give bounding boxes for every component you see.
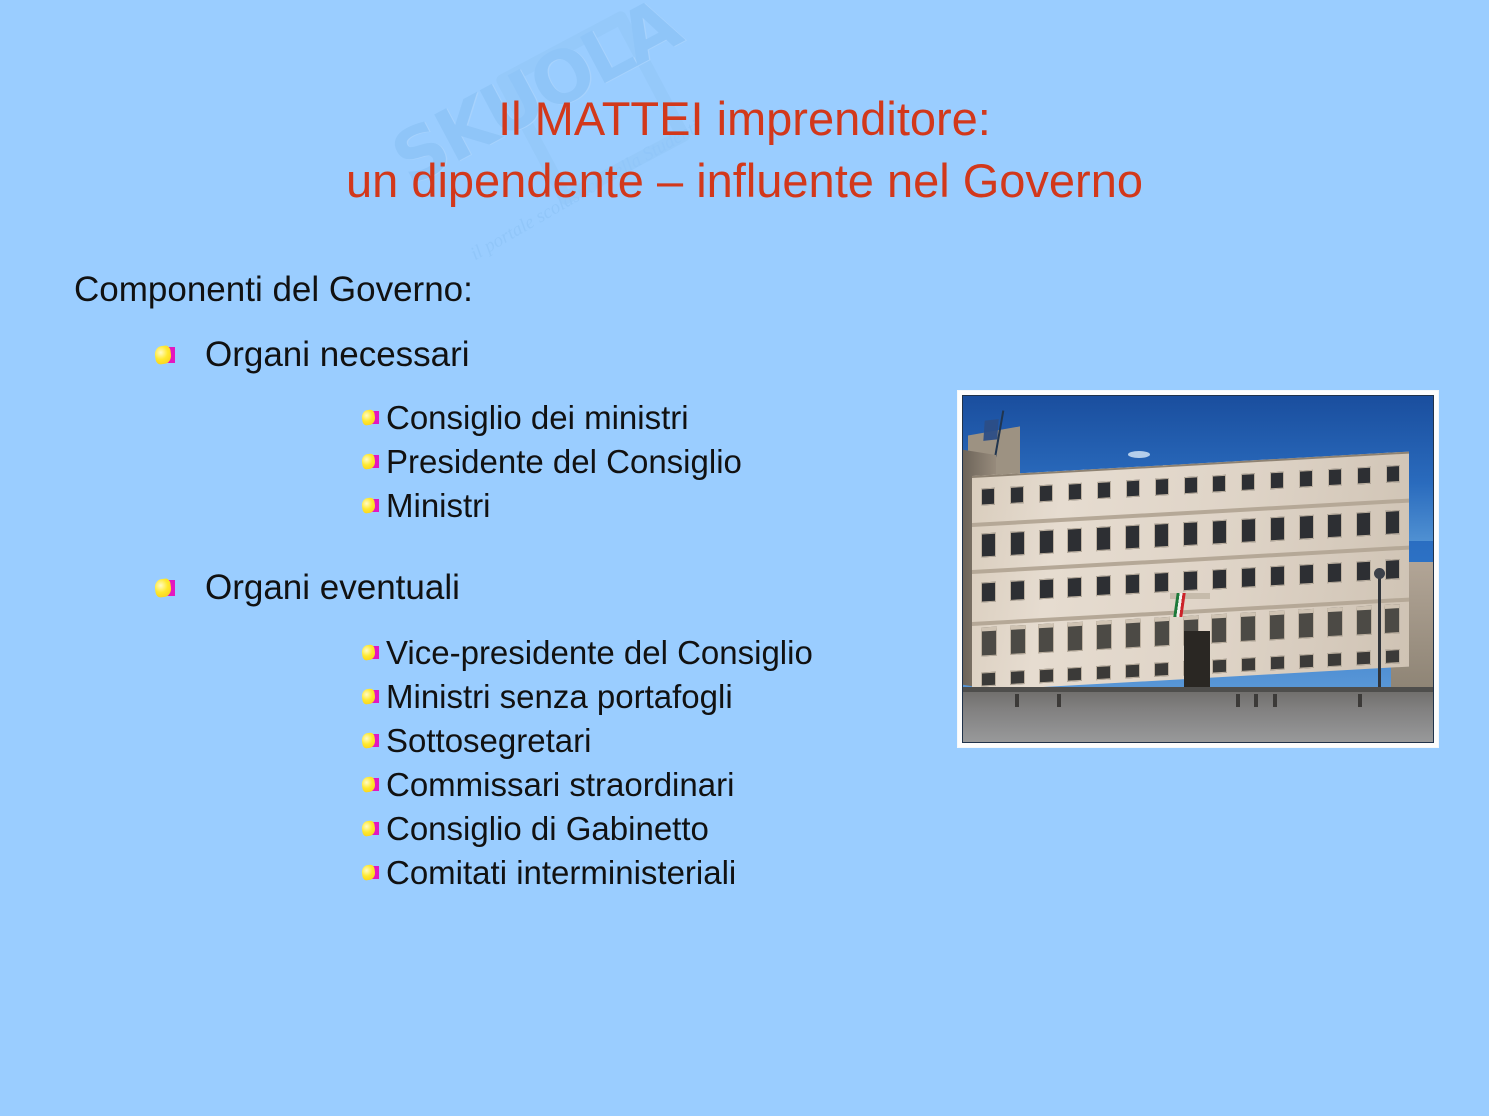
list-item: Consiglio dei ministri	[362, 396, 742, 440]
yellow-diamond-bullet-icon	[362, 453, 379, 470]
list-item-label: Consiglio dei ministri	[386, 396, 689, 440]
yellow-diamond-bullet-icon	[155, 578, 175, 598]
list-item: Ministri	[362, 484, 742, 528]
list-item-label: Vice-presidente del Consiglio	[386, 631, 813, 675]
yellow-diamond-bullet-icon	[362, 864, 379, 881]
list-item-label: Ministri	[386, 484, 491, 528]
list-item-label: Sottosegretari	[386, 719, 591, 763]
list-item: Sottosegretari	[362, 719, 813, 763]
section-heading-organi-eventuali: Organi eventuali	[155, 565, 460, 611]
section-heading-label: Organi eventuali	[205, 565, 460, 611]
slide-canvas: SKUOLA il portale scolastico della Stude…	[0, 0, 1489, 1116]
list-item: Comitati interministeriali	[362, 851, 813, 895]
yellow-diamond-bullet-icon	[362, 409, 379, 426]
list-item: Presidente del Consiglio	[362, 440, 742, 484]
list-item: Vice-presidente del Consiglio	[362, 631, 813, 675]
list-item: Ministri senza portafogli	[362, 675, 813, 719]
list-item-label: Presidente del Consiglio	[386, 440, 742, 484]
list-item-label: Consiglio di Gabinetto	[386, 807, 709, 851]
lead-line: Componenti del Governo:	[74, 268, 473, 312]
yellow-diamond-bullet-icon	[155, 345, 175, 365]
yellow-diamond-bullet-icon	[362, 820, 379, 837]
list-item-label: Commissari straordinari	[386, 763, 734, 807]
slide-body: Componenti del Governo: Organi necessari…	[0, 0, 1489, 1116]
yellow-diamond-bullet-icon	[362, 644, 379, 661]
section-items-organi-necessari: Consiglio dei ministri Presidente del Co…	[362, 396, 742, 528]
yellow-diamond-bullet-icon	[362, 732, 379, 749]
yellow-diamond-bullet-icon	[362, 688, 379, 705]
list-item: Consiglio di Gabinetto	[362, 807, 813, 851]
list-item: Commissari straordinari	[362, 763, 813, 807]
list-item-label: Ministri senza portafogli	[386, 675, 733, 719]
yellow-diamond-bullet-icon	[362, 776, 379, 793]
section-items-organi-eventuali: Vice-presidente del Consiglio Ministri s…	[362, 631, 813, 895]
list-item-label: Comitati interministeriali	[386, 851, 736, 895]
yellow-diamond-bullet-icon	[362, 497, 379, 514]
section-heading-organi-necessari: Organi necessari	[155, 332, 470, 378]
section-heading-label: Organi necessari	[205, 332, 470, 378]
